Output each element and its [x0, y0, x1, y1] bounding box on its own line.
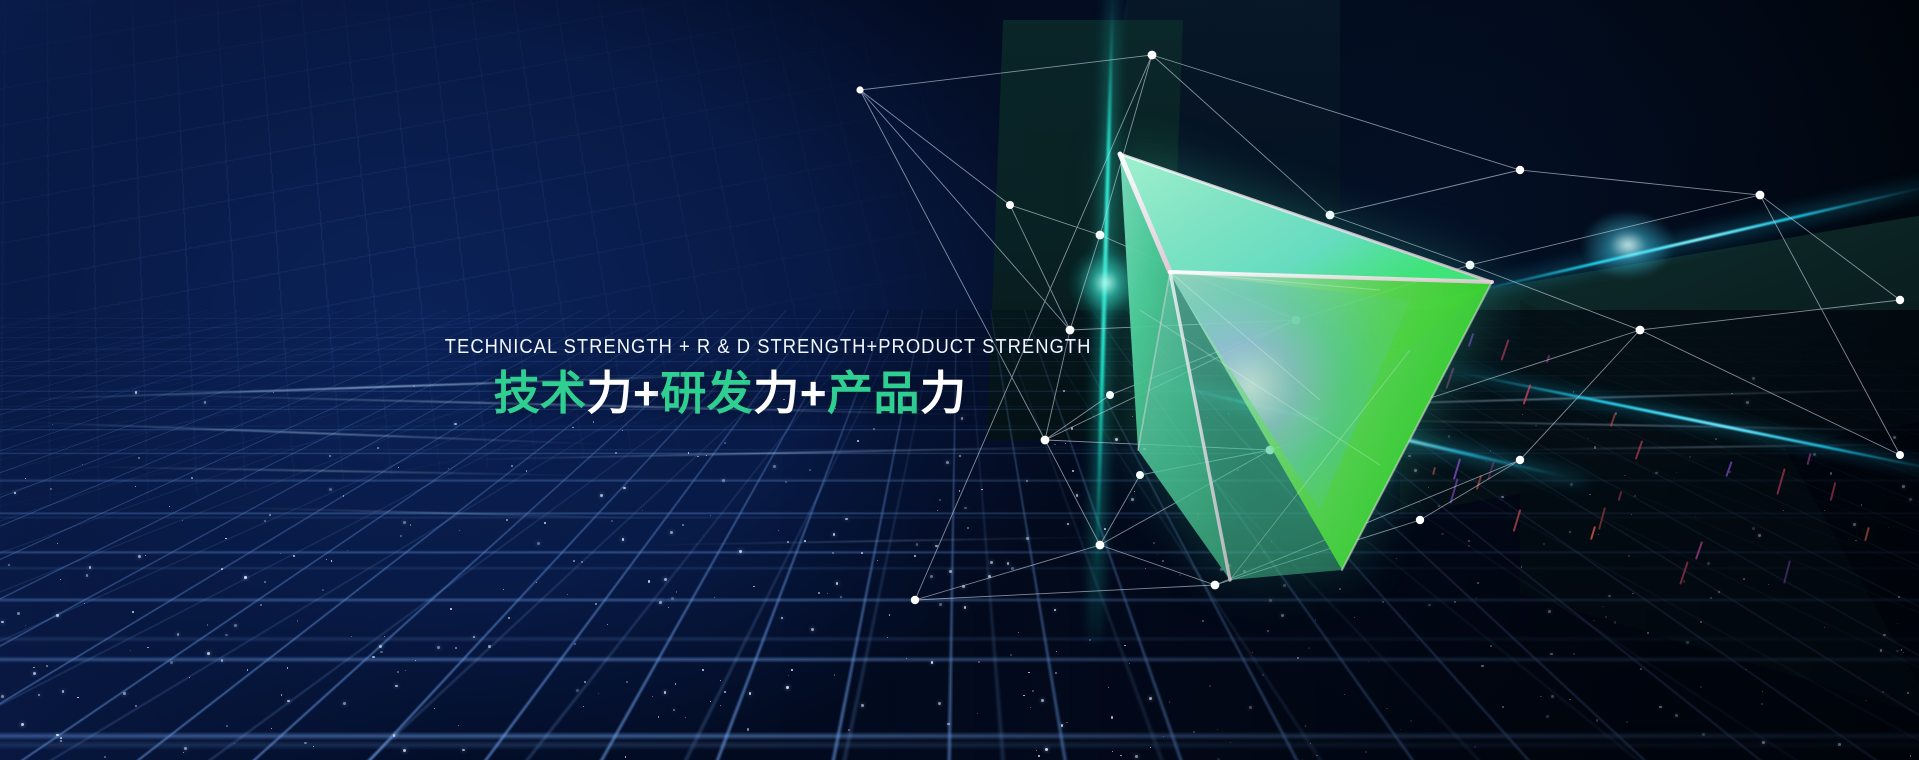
particle-dot: [778, 530, 779, 531]
particle-dot: [848, 729, 850, 731]
particle-dot: [1028, 672, 1029, 673]
particle-dot: [280, 553, 281, 554]
particle-dot: [1150, 747, 1151, 748]
particle-dot: [1400, 729, 1401, 730]
particle-dot: [488, 645, 490, 647]
particle-dot: [1903, 652, 1904, 653]
particle-dot: [459, 530, 461, 532]
particle-dot: [260, 604, 262, 606]
particle-dot: [33, 672, 36, 675]
particle-dot: [857, 440, 859, 442]
particle-dot: [600, 494, 603, 497]
particle-dot: [1417, 640, 1418, 641]
particle-dot: [403, 521, 406, 524]
particle-dot: [1909, 498, 1912, 501]
particle-dot: [1149, 697, 1152, 700]
particle-dot: [287, 700, 290, 703]
particle-dot: [104, 756, 106, 758]
particle-dot: [1880, 649, 1883, 652]
particle-dot: [675, 683, 677, 685]
particle-dot: [1898, 596, 1900, 598]
particle-dot: [25, 625, 26, 626]
particle-dot: [1762, 691, 1763, 692]
particle-dot: [1569, 531, 1572, 534]
particle-dot: [450, 608, 452, 610]
particle-dot: [135, 486, 136, 487]
particle-dot: [990, 561, 993, 564]
particle-dot: [1594, 446, 1596, 448]
particle-dot: [791, 669, 793, 671]
particle-dot: [1010, 654, 1012, 656]
particle-dot: [664, 691, 667, 694]
particle-dot: [1262, 674, 1264, 676]
headline-chinese-segment-3: 研发: [660, 367, 753, 419]
particle-dot: [1707, 562, 1710, 565]
particle-dot: [706, 455, 708, 457]
particle-dot: [1573, 653, 1575, 655]
particle-dot: [1120, 755, 1122, 757]
particle-dot: [688, 452, 690, 454]
particle-dot: [46, 665, 48, 667]
particle-dot: [1745, 669, 1747, 671]
particle-dot: [786, 686, 789, 689]
particle-dot: [906, 658, 907, 659]
particle-dot: [1026, 537, 1029, 540]
particle-dot: [1628, 555, 1630, 557]
particle-dot: [937, 510, 938, 511]
particle-dot: [455, 647, 457, 649]
particle-dot: [832, 552, 834, 554]
particle-dot: [946, 461, 949, 464]
particle-dot: [939, 499, 941, 501]
particle-dot: [861, 552, 863, 554]
particle-dot: [225, 538, 227, 540]
particle-dot: [1481, 665, 1483, 667]
particle-dot: [625, 756, 627, 758]
headline-chinese-segment-6: 产品: [827, 367, 920, 419]
particle-dot: [183, 752, 184, 753]
particle-dot: [84, 603, 85, 604]
particle-dot: [1217, 729, 1218, 730]
hero-banner: TECHNICAL STRENGTH + R & D STRENGTH+PROD…: [0, 0, 1919, 760]
particle-dot: [1861, 504, 1863, 506]
particle-dot: [1910, 755, 1911, 756]
particle-dot: [978, 661, 980, 663]
particle-dot: [914, 555, 916, 557]
particle-dot: [184, 747, 187, 750]
particle-dot: [1030, 707, 1031, 708]
particle-dot: [14, 492, 17, 495]
particle-dot: [89, 566, 92, 569]
particle-dot: [1675, 714, 1678, 717]
particle-dot: [1023, 695, 1025, 697]
particle-dot: [1056, 651, 1057, 652]
particle-dot: [343, 495, 344, 496]
particle-dot: [1596, 719, 1598, 721]
particle-dot: [714, 597, 715, 598]
slab-tick: [1783, 560, 1791, 584]
particle-dot: [1593, 620, 1594, 621]
particle-dot: [1853, 523, 1856, 526]
particle-dot: [1036, 750, 1037, 751]
particle-dot: [1061, 724, 1064, 727]
particle-dot: [1731, 393, 1732, 394]
particle-dot: [372, 656, 374, 658]
headline-chinese-segment-5: +: [800, 367, 827, 419]
particle-dot: [648, 580, 650, 582]
particle-dot: [1163, 736, 1164, 737]
particle-dot: [1752, 377, 1755, 380]
particle-dot: [398, 467, 400, 469]
wave-crest: [430, 445, 1130, 462]
particle-dot: [685, 717, 686, 718]
particle-dot: [747, 728, 749, 730]
particle-dot: [1252, 652, 1253, 653]
particle-dot: [930, 575, 933, 578]
particle-dot: [1230, 742, 1231, 743]
particle-dot: [343, 702, 346, 705]
particle-dot: [182, 520, 183, 521]
particle-dot: [1907, 692, 1910, 695]
particle-dot: [264, 520, 267, 523]
particle-dot: [584, 681, 586, 683]
particle-dot: [959, 455, 961, 457]
particle-dot: [1474, 746, 1476, 748]
particle-dot: [574, 643, 577, 646]
particle-dot: [57, 543, 58, 544]
particle-dot: [536, 582, 537, 583]
particle-dot: [834, 674, 835, 675]
particle-dot: [1310, 743, 1311, 744]
particle-dot: [1522, 414, 1523, 415]
particle-dot: [581, 561, 583, 563]
particle-dot: [393, 734, 396, 737]
headline-chinese-segment-4: 力: [753, 367, 799, 419]
headline-english: TECHNICAL STRENGTH + R & D STRENGTH+PROD…: [445, 336, 1015, 359]
particle-dot: [1659, 706, 1661, 708]
particle-dot: [1888, 527, 1890, 529]
particle-dot: [1269, 599, 1272, 602]
particle-dot: [697, 456, 698, 457]
upper-right-lens-flare-icon: [1580, 210, 1676, 280]
particle-dot: [702, 669, 704, 671]
particle-dot: [384, 636, 385, 637]
particle-dot: [1608, 595, 1610, 597]
particle-dot: [788, 675, 789, 676]
particle-dot: [1700, 686, 1702, 688]
particle-dot: [658, 716, 660, 718]
particle-dot: [377, 447, 379, 449]
particle-dot: [380, 651, 382, 653]
particle-dot: [938, 702, 941, 705]
particle-dot: [322, 589, 324, 591]
wave-crest: [0, 420, 620, 446]
particle-dot: [1076, 494, 1079, 497]
headline-chinese: 技术力+研发力+产品力: [420, 366, 1040, 420]
particle-dot: [1344, 694, 1345, 695]
particle-dot: [739, 550, 742, 553]
particle-dot: [1267, 630, 1270, 633]
slab-tick: [1725, 461, 1732, 477]
particle-dot: [977, 713, 978, 714]
particle-dot: [1588, 438, 1589, 439]
headline-chinese-segment-1: 力: [587, 367, 633, 419]
wave-crest: [620, 535, 1140, 546]
particle-dot: [1762, 741, 1765, 744]
particle-dot: [329, 455, 332, 458]
particle-dot: [1316, 755, 1318, 757]
particle-dot: [722, 479, 725, 482]
particle-dot: [676, 591, 678, 593]
particle-dot: [1758, 534, 1761, 537]
particle-dot: [508, 617, 510, 619]
particle-dot: [434, 708, 435, 709]
particle-dot: [271, 728, 272, 729]
particle-dot: [845, 518, 847, 520]
particle-dot: [82, 464, 83, 465]
particle-dot: [1550, 653, 1553, 656]
particle-dot: [60, 740, 63, 743]
particle-dot: [50, 488, 52, 490]
particle-dot: [1882, 691, 1884, 693]
particle-dot: [1783, 510, 1784, 511]
slab-tick: [1513, 509, 1522, 532]
particle-dot: [668, 607, 669, 608]
particle-dot: [622, 430, 623, 431]
particle-dot: [221, 568, 223, 570]
particle-dot: [1386, 708, 1387, 709]
particle-dot: [1640, 668, 1642, 670]
headline-chinese-segment-2: +: [633, 367, 660, 419]
particle-dot: [1, 621, 4, 624]
particle-dot: [572, 427, 573, 428]
particle-dot: [138, 555, 141, 558]
particle-dot: [1124, 645, 1126, 647]
particle-dot: [988, 575, 991, 578]
particle-dot: [652, 696, 653, 697]
particle-dot: [1007, 562, 1010, 565]
particle-dot: [62, 690, 65, 693]
particle-dot: [1824, 627, 1826, 629]
particle-dot: [17, 612, 19, 614]
particle-dot: [1838, 743, 1841, 746]
particle-dot: [724, 691, 726, 693]
particle-dot: [269, 514, 271, 516]
slab-tick: [1807, 453, 1812, 465]
particle-dot: [77, 697, 79, 699]
particle-dot: [1281, 614, 1284, 617]
particle-dot: [811, 628, 814, 631]
particle-dot: [1624, 475, 1626, 477]
slab-tick: [1864, 527, 1870, 541]
particle-dot: [1502, 706, 1504, 708]
particle-dot: [959, 490, 961, 492]
particle-dot: [873, 428, 875, 430]
particle-dot: [981, 489, 983, 491]
particle-dot: [52, 424, 53, 425]
particle-dot: [642, 510, 643, 511]
particle-dot: [595, 603, 597, 605]
particle-dot: [1041, 699, 1044, 702]
particle-dot: [1901, 649, 1902, 650]
particle-dot: [405, 670, 406, 671]
particle-dot: [21, 723, 24, 726]
particle-dot: [809, 469, 811, 471]
particle-dot: [33, 667, 35, 669]
particle-dot: [1614, 621, 1617, 624]
particle-dot: [682, 524, 684, 526]
wave-crest: [200, 506, 680, 521]
particle-dot: [1365, 751, 1367, 753]
particle-dot: [1026, 480, 1029, 483]
particle-dot: [1902, 485, 1905, 488]
particle-dot: [1454, 601, 1456, 603]
particle-dot: [313, 746, 314, 747]
particle-dot: [1540, 696, 1542, 698]
particle-dot: [454, 423, 457, 426]
particle-dot: [395, 685, 398, 688]
particle-dot: [506, 519, 508, 521]
particle-dot: [293, 555, 295, 557]
particle-dot: [1072, 470, 1074, 472]
particle-dot: [1045, 748, 1048, 751]
particle-dot: [1428, 604, 1431, 607]
particle-dot: [145, 555, 146, 556]
particle-dot: [170, 661, 173, 664]
particle-dot: [135, 705, 137, 707]
particle-dot: [1382, 601, 1384, 603]
particle-dot: [622, 538, 625, 541]
particle-dot: [1169, 701, 1170, 702]
particle-dot: [503, 589, 504, 590]
particle-dot: [818, 592, 820, 594]
particle-dot: [781, 617, 783, 619]
particle-dot: [1695, 516, 1696, 517]
particle-dot: [1602, 606, 1604, 608]
particle-dot: [773, 465, 776, 468]
particle-dot: [351, 636, 352, 637]
particle-dot: [1573, 391, 1575, 393]
particle-dot: [247, 669, 249, 671]
particle-dot: [1752, 527, 1755, 530]
particle-dot: [1410, 720, 1412, 722]
particle-dot: [1910, 468, 1911, 469]
particle-dot: [583, 706, 584, 707]
particle-dot: [1368, 661, 1369, 662]
particle-dot: [664, 578, 667, 581]
particle-dot: [400, 535, 402, 537]
particle-dot: [191, 477, 193, 479]
particle-dot: [1589, 494, 1591, 496]
particle-dot: [626, 681, 628, 683]
particle-dot: [1297, 657, 1299, 659]
particle-dot: [1038, 755, 1039, 756]
particle-dot: [947, 723, 950, 726]
headline-chinese-segment-7: 力: [920, 367, 966, 419]
particle-dot: [1632, 593, 1633, 594]
particle-dot: [544, 522, 546, 524]
particle-dot: [331, 560, 333, 562]
particle-dot: [1193, 731, 1195, 733]
headline-block: TECHNICAL STRENGTH + R & D STRENGTH+PROD…: [420, 336, 1040, 420]
particle-dot: [60, 737, 62, 739]
particle-dot: [234, 743, 235, 744]
particle-dot: [1569, 699, 1571, 701]
particle-dot: [1897, 623, 1898, 624]
particle-dot: [1689, 456, 1691, 458]
particle-dot: [1743, 578, 1745, 580]
particle-dot: [887, 637, 889, 639]
slab-tick: [1830, 482, 1837, 501]
particle-dot: [264, 581, 266, 583]
particle-dot: [273, 392, 274, 393]
slab-tick: [1618, 491, 1623, 501]
particle-dot: [1111, 716, 1113, 718]
wave-crest: [1500, 443, 1919, 451]
particle-dot: [1, 695, 4, 698]
particle-dot: [297, 620, 298, 621]
dark-slab-wedge: [1520, 300, 1919, 720]
particle-dot: [1570, 483, 1573, 486]
particle-dot: [1054, 609, 1057, 612]
particle-dot: [511, 465, 513, 467]
particle-dot: [1824, 510, 1825, 511]
particle-dot: [1865, 700, 1867, 702]
particle-dot: [281, 694, 283, 696]
slab-tick: [1590, 526, 1596, 540]
particle-dot: [1032, 690, 1034, 692]
particle-dot: [576, 689, 579, 692]
particle-dot: [347, 550, 348, 551]
particle-dot: [916, 543, 919, 546]
particle-dot: [787, 541, 789, 543]
particle-dot: [670, 531, 673, 534]
particle-dot: [1011, 567, 1014, 570]
particle-dot: [615, 452, 617, 454]
particle-dot: [827, 593, 828, 594]
particle-dot: [1521, 566, 1523, 568]
particle-dot: [379, 645, 382, 648]
particle-dot: [1055, 672, 1057, 674]
particle-dot: [221, 659, 224, 662]
particle-dot: [931, 661, 934, 664]
particle-dot: [1598, 534, 1600, 536]
particle-dot: [785, 481, 787, 483]
particle-dot: [877, 560, 879, 562]
particle-dot: [138, 457, 140, 459]
particle-dot: [673, 709, 676, 712]
particle-dot: [1018, 632, 1019, 633]
particle-dot: [1202, 620, 1204, 622]
particle-dot: [749, 692, 752, 695]
particle-dot: [1718, 591, 1720, 593]
particle-dot: [448, 468, 450, 470]
particle-dot: [1715, 438, 1717, 440]
particle-dot: [177, 633, 180, 636]
particle-dot: [537, 542, 540, 545]
slab-tick: [1695, 541, 1703, 560]
particle-dot: [56, 614, 59, 617]
particle-dot: [397, 671, 399, 673]
particle-dot: [724, 442, 726, 444]
slab-tick: [1776, 468, 1785, 495]
particle-dot: [123, 692, 126, 695]
particle-dot: [1647, 632, 1649, 634]
particle-dot: [169, 506, 170, 507]
particle-dot: [1135, 755, 1138, 758]
particle-dot: [720, 705, 721, 706]
particle-dot: [1551, 695, 1554, 698]
